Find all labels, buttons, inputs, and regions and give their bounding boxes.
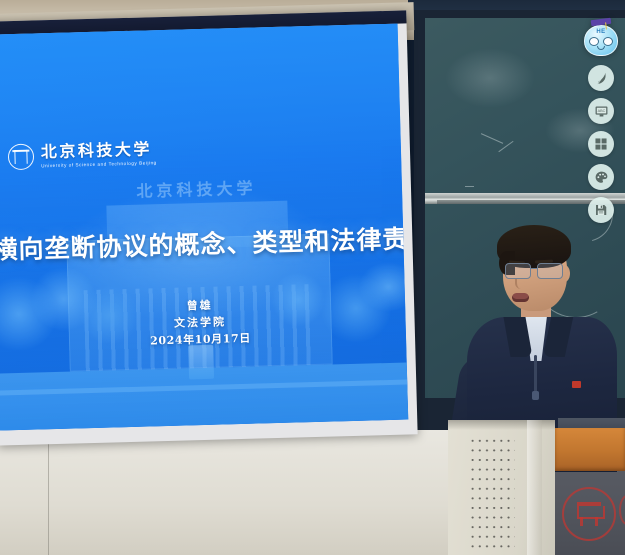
- seal-leg-left: [580, 517, 583, 526]
- chalk-mark: [481, 133, 503, 144]
- presenter-zipper-pull: [532, 391, 539, 400]
- chalk-mark: [465, 186, 474, 187]
- palette-icon[interactable]: [588, 164, 614, 190]
- lens-left: [505, 263, 531, 279]
- mascot-label: HE: [583, 29, 619, 35]
- presenter-zipper: [534, 355, 537, 393]
- chalk-mark: [498, 141, 513, 153]
- svg-text:ABC: ABC: [597, 109, 605, 113]
- lower-wall: [0, 430, 470, 555]
- presenter-chest-logo: [572, 381, 581, 388]
- graduation-cap-icon: [591, 18, 612, 26]
- floppy-save-icon[interactable]: [588, 197, 614, 223]
- university-wall-seal: [562, 487, 616, 541]
- blackboard-abc-icon[interactable]: ABC: [588, 98, 614, 124]
- seal-leg-right: [595, 517, 598, 526]
- university-name-cn: 北京科技大学: [41, 141, 157, 161]
- university-seal-icon: [8, 144, 35, 171]
- slide-tool-overlay: HE ABC: [580, 18, 622, 223]
- wall-seam: [48, 438, 49, 555]
- podium-edge-highlight: [527, 420, 542, 555]
- presenter-mouth: [512, 293, 529, 302]
- lecture-hall-scene: 北京科技大学 北京科技大学 University of Science and …: [0, 0, 625, 555]
- presentation-slide: 北京科技大学 北京科技大学 University of Science and …: [0, 24, 408, 431]
- feather-pen-icon[interactable]: [588, 65, 614, 91]
- glasses-bridge: [531, 268, 538, 269]
- chalk-smudge: [445, 48, 535, 108]
- projection-screen: 北京科技大学 北京科技大学 University of Science and …: [0, 10, 418, 445]
- robot-graduate-icon[interactable]: HE: [583, 18, 619, 56]
- slide-university-logo: 北京科技大学 University of Science and Technol…: [8, 140, 157, 170]
- eyeglasses-icon: [503, 263, 569, 279]
- mascot-glasses-icon: [589, 37, 613, 44]
- speaker-grille: [469, 436, 515, 554]
- podium-wood-panel: [555, 428, 625, 471]
- presenter-nose: [515, 279, 523, 289]
- ding-cauldron-icon: [575, 502, 603, 526]
- lens-right: [537, 263, 563, 279]
- campus-plaza: [0, 362, 408, 430]
- grid-windows-icon[interactable]: [588, 131, 614, 157]
- projected-slide-area: 北京科技大学 北京科技大学 University of Science and …: [0, 24, 408, 431]
